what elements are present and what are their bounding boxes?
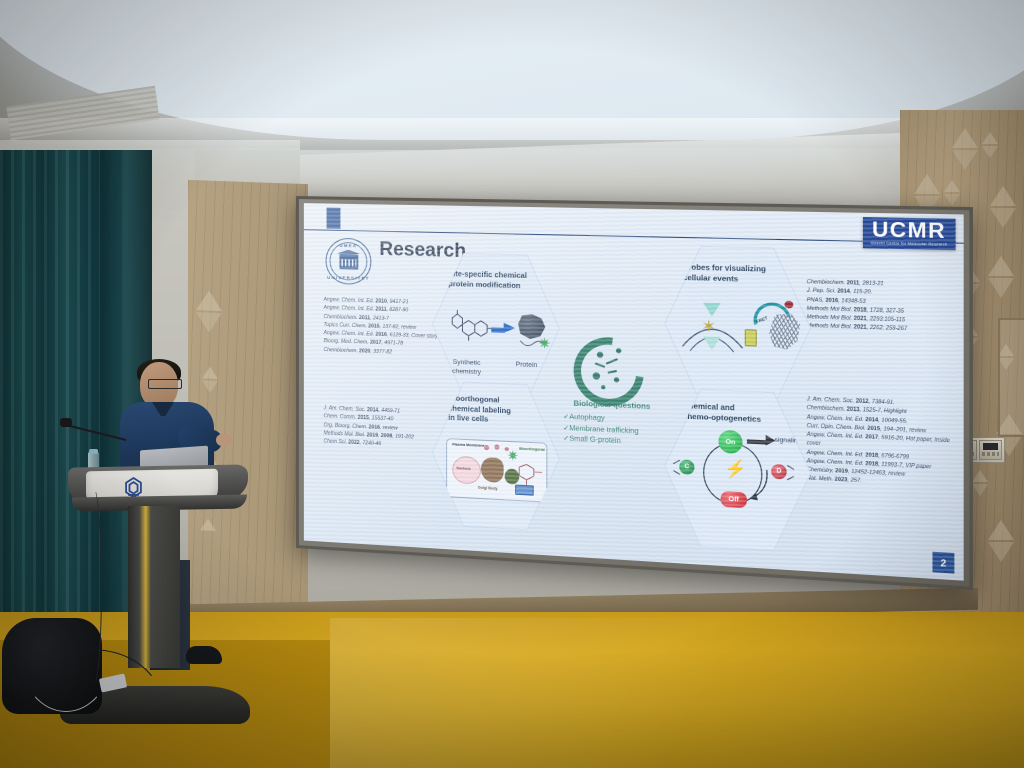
state-off-badge: Off — [721, 491, 747, 508]
light-bolt-icon: ⚡ — [724, 459, 747, 478]
small-molecule-icon — [448, 310, 493, 346]
slide-content: UCMR Utrecht Centre for Molecular Resear… — [304, 203, 964, 581]
hexagon-site-specific[interactable]: Site-specific chemicalprotein modificati… — [432, 252, 560, 402]
chevron-down-icon-2 — [703, 336, 720, 350]
chevron-down-icon — [703, 303, 720, 317]
podium-column — [128, 506, 180, 668]
molecule-d-icon: D — [771, 464, 787, 480]
control-display-icon — [983, 443, 998, 450]
microphone-icon — [60, 418, 72, 427]
center-biological-questions: Biological questions ✓Autophagy✓Membrane… — [546, 325, 674, 476]
references-top-left: Angew. Chem. Int. Ed. 2010, 9417-21Angew… — [324, 296, 442, 358]
references-top-right: Chembiochem. 2011, 2813-21J. Pep. Sci. 2… — [807, 278, 952, 335]
ucmr-logo: UCMR Utrecht Centre for Molecular Resear… — [863, 217, 956, 251]
university-seal-icon: UMEA UNIVERSITET — [326, 238, 372, 285]
label-plasma-membrane: Plasma Membrane — [452, 442, 484, 448]
molecule-c-icon: C — [679, 459, 694, 474]
acceptor-dot-icon — [784, 301, 793, 309]
screen-surface: UCMR Utrecht Centre for Molecular Resear… — [304, 203, 964, 581]
tag-chip-icon — [515, 484, 534, 495]
excitation-burst-icon: ✶ — [701, 317, 717, 335]
fluorophore-star-icon: ✷ — [538, 336, 551, 352]
floor-reflection — [330, 618, 1024, 768]
speaker-shoe — [186, 646, 222, 664]
caption-synthetic-chemistry: Syntheticchemistry — [444, 358, 489, 377]
reaction-arrow-icon — [504, 323, 515, 334]
ucmr-logo-text: UCMR — [871, 219, 948, 242]
seal-top-text: UMEA — [327, 242, 371, 248]
slide-page-number: 2 — [932, 552, 954, 574]
control-unit-3[interactable] — [979, 440, 1002, 460]
label-golgi: Golgi Body — [478, 486, 498, 491]
hexagon-optogenetics[interactable]: Chemical andchemo-optogenetics ⚡ On Off … — [664, 387, 811, 553]
hexagon-bioorthogonal[interactable]: Bioorthogonalchemical labelingin live ce… — [432, 380, 560, 532]
label-bioorthogonal: Bioorthogonal — [519, 447, 545, 452]
signaling-arrow-stem — [747, 439, 767, 444]
hexagon-probes-title: Probes for visualizingcellular events — [683, 262, 799, 285]
references-bottom-left: J. Am. Chem. Soc. 2014, 4459-71Chem. Com… — [324, 404, 442, 451]
ceiling-vent-grille — [6, 86, 159, 141]
projection-screen[interactable]: UCMR Utrecht Centre for Molecular Resear… — [296, 196, 973, 590]
hexagon-probes[interactable]: Probes for visualizingcellular events ✶ … — [664, 245, 811, 408]
wall-frame-art — [998, 318, 1024, 437]
seal-bottom-text: UNIVERSITET — [327, 274, 371, 280]
water-bottle-cap — [89, 449, 98, 454]
speaker-hand — [216, 434, 232, 446]
biological-questions-heading: Biological questions — [557, 398, 668, 412]
donor-chip-icon — [745, 329, 757, 346]
hexagon-bioorthogonal-title: Bioorthogonalchemical labelingin live ce… — [448, 393, 549, 427]
slide-title: Research — [379, 239, 466, 263]
label-nucleus: Nucleus — [456, 466, 470, 471]
biological-questions-list: ✓Autophagy✓Membrane trafficking✓Small G-… — [563, 412, 638, 448]
control-buttons[interactable] — [982, 452, 999, 456]
golgi-icon — [481, 457, 504, 483]
seal-building-glyph — [339, 254, 358, 270]
references-bottom-right: J. Am. Chem. Soc. 2012, 7384-91.Chembioc… — [807, 395, 957, 490]
caption-protein: Protein — [506, 361, 548, 370]
glasses-icon — [148, 379, 182, 389]
slide-accent-tab — [327, 208, 341, 229]
lecture-hall-scene: UCMR Utrecht Centre for Molecular Resear… — [0, 0, 1024, 768]
hexagon-site-specific-title: Site-specific chemicalprotein modificati… — [448, 269, 549, 291]
state-on-badge: On — [718, 430, 742, 454]
signaling-label: signaling — [775, 436, 802, 445]
cell-schematic: Plasma Membrane Nucleus Golgi Body ✷ Bio… — [446, 438, 547, 503]
cable-podium — [84, 486, 102, 688]
cycle-return-arrow-icon — [747, 467, 771, 502]
ucmr-logo-subtext: Utrecht Centre for Molecular Research — [871, 242, 948, 247]
